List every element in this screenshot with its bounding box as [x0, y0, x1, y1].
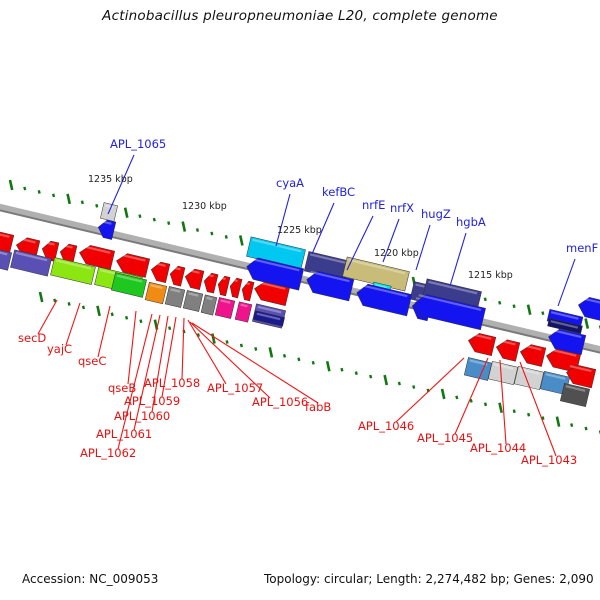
- tick-mark: [82, 201, 83, 204]
- tick-mark: [212, 334, 214, 344]
- tick-mark: [69, 302, 70, 305]
- gene-feature[interactable]: [216, 275, 230, 296]
- gene-feature[interactable]: [518, 342, 546, 366]
- gene-feature[interactable]: [183, 290, 203, 311]
- gene-label[interactable]: APL_1043: [521, 453, 577, 467]
- tick-mark: [356, 372, 357, 375]
- gene-label[interactable]: nrfE: [362, 198, 385, 212]
- gene-label[interactable]: APL_1060: [114, 409, 170, 423]
- gene-feature[interactable]: [466, 331, 496, 355]
- tick-mark: [514, 410, 515, 413]
- gene-glyph[interactable]: [494, 338, 520, 362]
- tick-mark: [227, 340, 228, 343]
- gene-label[interactable]: fabB: [305, 400, 331, 414]
- tick-mark: [40, 292, 42, 302]
- gene-label[interactable]: hgbA: [456, 215, 486, 229]
- tick-mark: [96, 204, 97, 207]
- tick-mark: [270, 347, 272, 357]
- ruler-tick-label: 1215 kbp: [468, 270, 513, 281]
- gene-feature[interactable]: [165, 286, 185, 307]
- tick-mark: [442, 389, 444, 399]
- tick-mark: [571, 423, 572, 426]
- tick-mark: [112, 313, 113, 316]
- tick-mark: [125, 208, 127, 218]
- tick-mark: [83, 306, 84, 309]
- gene-label[interactable]: yajC: [47, 342, 72, 356]
- tick-mark: [485, 298, 486, 301]
- gene-feature[interactable]: [228, 277, 242, 298]
- gene-label[interactable]: nrfX: [390, 201, 414, 215]
- gene-feature[interactable]: [494, 338, 520, 362]
- tick-mark: [399, 382, 400, 385]
- tick-mark: [140, 215, 141, 218]
- gene-feature[interactable]: [201, 295, 217, 315]
- tick-mark: [586, 427, 587, 430]
- tick-mark: [586, 319, 588, 329]
- tick-mark: [226, 235, 227, 238]
- gene-label[interactable]: APL_1062: [80, 446, 136, 460]
- tick-mark: [342, 368, 343, 371]
- tick-mark: [542, 312, 543, 315]
- gene-label[interactable]: hugZ: [421, 207, 451, 221]
- leader-line: [396, 358, 464, 422]
- tick-mark: [485, 403, 486, 406]
- gene-labels[interactable]: APL_1065cyaAkefBCnrfEnrfXhugZhgbAmenFsec…: [18, 137, 598, 467]
- gene-label[interactable]: APL_1059: [124, 394, 180, 408]
- genome-stats-text: Topology: circular; Length: 2,274,482 bp…: [264, 572, 594, 586]
- gene-label[interactable]: APL_1061: [96, 427, 152, 441]
- gene-label[interactable]: APL_1065: [110, 137, 166, 151]
- tick-mark: [528, 305, 530, 315]
- gene-label[interactable]: menF: [566, 241, 598, 255]
- gene-feature[interactable]: [464, 357, 492, 380]
- tick-mark: [197, 228, 198, 231]
- gene-feature[interactable]: [149, 260, 170, 282]
- gene-feature[interactable]: [202, 272, 218, 293]
- tick-mark: [456, 396, 457, 399]
- gene-label[interactable]: secD: [18, 331, 46, 345]
- gene-feature[interactable]: [145, 282, 167, 304]
- tick-mark: [154, 218, 155, 221]
- tick-mark: [240, 235, 242, 245]
- leader-line: [276, 194, 290, 246]
- gene-feature[interactable]: [488, 361, 517, 385]
- gene-glyph[interactable]: [466, 331, 496, 355]
- leader-line: [558, 259, 575, 306]
- gene-glyph[interactable]: [0, 229, 14, 253]
- tick-mark: [327, 361, 329, 371]
- accession-text: Accession: NC_009053: [22, 572, 158, 586]
- tick-mark: [68, 194, 70, 204]
- leader-line: [450, 233, 466, 286]
- genome-map-canvas[interactable]: APL_1065cyaAkefBCnrfEnrfXhugZhgbAmenFsec…: [0, 0, 600, 600]
- leader-line: [66, 303, 80, 345]
- gene-glyph[interactable]: [464, 357, 492, 380]
- gene-label[interactable]: APL_1046: [358, 419, 414, 433]
- gene-feature[interactable]: [168, 265, 185, 286]
- gene-label[interactable]: cyaA: [276, 176, 304, 190]
- tick-mark: [528, 413, 529, 416]
- tick-mark: [39, 190, 40, 193]
- tick-mark: [514, 305, 515, 308]
- tick-mark: [413, 385, 414, 388]
- ruler-tick-label: 1230 kbp: [182, 201, 227, 212]
- tick-mark: [543, 417, 544, 420]
- leader-line: [38, 300, 57, 334]
- gene-feature[interactable]: [235, 302, 252, 323]
- tick-mark: [499, 301, 500, 304]
- tick-mark: [370, 375, 371, 378]
- gene-label[interactable]: qseC: [78, 354, 106, 368]
- tick-mark: [385, 375, 387, 385]
- tick-mark: [126, 316, 127, 319]
- tick-mark: [97, 306, 99, 316]
- tick-mark: [54, 299, 55, 302]
- gene-label[interactable]: APL_1044: [470, 441, 526, 455]
- gene-label[interactable]: APL_1056: [252, 395, 308, 409]
- tick-mark: [169, 327, 170, 330]
- tick-mark: [141, 320, 142, 323]
- gene-label[interactable]: kefBC: [322, 185, 355, 199]
- leader-line: [182, 318, 184, 379]
- tick-mark: [53, 194, 54, 197]
- gene-feature[interactable]: [0, 229, 14, 253]
- gene-label[interactable]: APL_1058: [144, 376, 200, 390]
- tick-mark: [24, 187, 25, 190]
- ruler-tick-label: 1235 kbp: [88, 174, 133, 185]
- tick-mark: [557, 417, 559, 427]
- gene-glyph[interactable]: [488, 361, 517, 385]
- gene-label[interactable]: APL_1057: [207, 381, 263, 395]
- tick-mark: [471, 399, 472, 402]
- tick-mark: [284, 354, 285, 357]
- genome-map-viewer: Actinobacillus pleuropneumoniae L20, com…: [0, 0, 600, 600]
- gene-feature[interactable]: [183, 267, 204, 289]
- gene-label[interactable]: APL_1045: [417, 431, 473, 445]
- ruler-tick-label: 1225 kbp: [277, 225, 322, 236]
- leader-line: [188, 320, 226, 384]
- tick-mark: [168, 221, 169, 224]
- gene-feature[interactable]: [240, 280, 254, 301]
- tick-mark: [211, 232, 212, 235]
- gene-feature[interactable]: [215, 297, 235, 318]
- leader-line: [128, 311, 136, 384]
- tick-mark: [183, 222, 185, 232]
- tick-mark: [255, 347, 256, 350]
- tick-mark: [313, 361, 314, 364]
- tick-mark: [241, 344, 242, 347]
- gene-label[interactable]: qseB: [108, 381, 136, 395]
- gene-glyph[interactable]: [518, 342, 546, 366]
- tick-mark: [298, 358, 299, 361]
- tick-mark: [10, 180, 12, 190]
- ruler-tick-label: 1220 kbp: [374, 248, 419, 259]
- tick-mark: [499, 403, 501, 413]
